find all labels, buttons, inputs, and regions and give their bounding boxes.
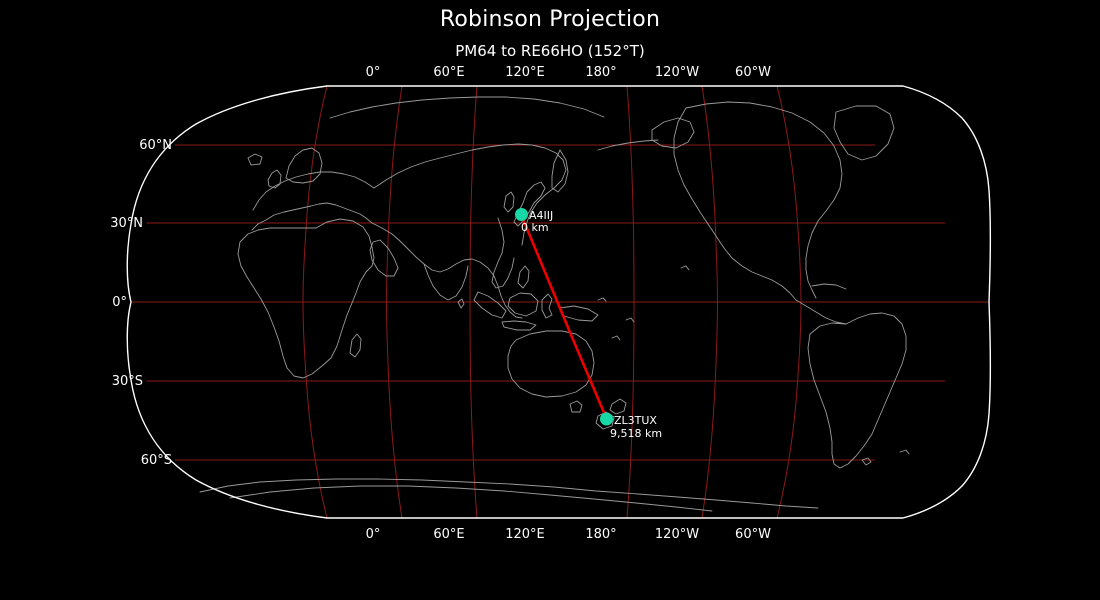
coast-sri-lanka [458,299,464,308]
lon-label-bottom-0: 0° [366,527,381,542]
coast-north-america [686,102,842,298]
lon-label-top-3: 180° [585,65,616,80]
marker-label-destination-distance: 9,518 km [610,427,662,440]
lon-label-top-0: 0° [366,65,381,80]
graticule-parallels [131,145,989,460]
coast-madagascar [350,334,361,357]
coast-siberia-arctic [330,97,604,118]
coast-antarctica [200,479,818,508]
coast-africa [238,219,374,378]
coast-borneo [508,293,538,316]
map-page: Robinson Projection PM64 to RE66HO (152°… [0,0,1100,600]
coast-philippines [518,266,529,288]
coast-alaska [652,118,694,148]
coast-south-america [808,313,906,468]
coast-australia [508,331,594,397]
coast-pacific-islands-2 [626,318,634,322]
lon-label-top-2: 120°E [505,65,545,80]
coast-new-zealand-north [610,399,626,414]
lon-label-bottom-2: 120°E [505,527,545,542]
marker-origin[interactable]: A4IIJ 0 km [515,208,553,234]
coast-central-america [796,300,846,324]
coast-sulawesi [542,294,552,318]
coast-british-isles [268,170,281,188]
lat-label-30N: 30°N [110,216,143,231]
coast-greenland [834,106,894,160]
coast-scandinavia [286,148,322,183]
coast-antarctica-inner [230,486,712,511]
great-circle-path[interactable] [522,216,607,419]
coastlines [200,97,909,511]
lon-label-bottom-4: 120°W [655,527,699,542]
lat-label-60S: 60°S [141,453,172,468]
lat-label-60N: 60°N [139,138,172,153]
coast-java [502,321,536,330]
longitude-labels-bottom: 0° 60°E 120°E 180° 120°W 60°W [366,527,771,542]
coast-falklands [862,458,871,465]
coast-north-america-west [674,108,796,300]
coast-hawaii [681,266,689,270]
lat-label-30S: 30°S [112,374,143,389]
coast-korea [504,192,514,212]
lat-label-0: 0° [112,295,127,310]
coast-iceland [248,154,262,165]
marker-label-destination-callsign: ZL3TUX [614,414,657,427]
longitude-labels-top: 0° 60°E 120°E 180° 120°W 60°W [366,65,771,80]
lon-label-top-1: 60°E [433,65,464,80]
marker-dot-destination[interactable] [600,413,613,426]
lon-label-bottom-3: 180° [585,527,616,542]
marker-label-origin-distance: 0 km [521,221,549,234]
lon-label-bottom-1: 60°E [433,527,464,542]
lon-label-top-5: 60°W [735,65,771,80]
robinson-map[interactable]: 0° 60°E 120°E 180° 120°W 60°W 0° 60°E 12… [0,0,1100,600]
coast-pacific-islands-1 [598,298,606,301]
coast-south-georgia [900,450,909,454]
marker-destination[interactable]: ZL3TUX 9,518 km [600,413,662,441]
coast-asia [372,223,522,318]
coast-pacific-islands-3 [612,336,620,340]
coast-caribbean [812,284,846,289]
coast-se-asia [492,218,514,288]
lon-label-bottom-5: 60°W [735,527,771,542]
coast-europe [252,203,372,230]
lon-label-top-4: 120°W [655,65,699,80]
coast-tasmania [570,401,582,412]
marker-dot-origin[interactable] [515,208,528,221]
coast-europe-north [253,172,374,210]
